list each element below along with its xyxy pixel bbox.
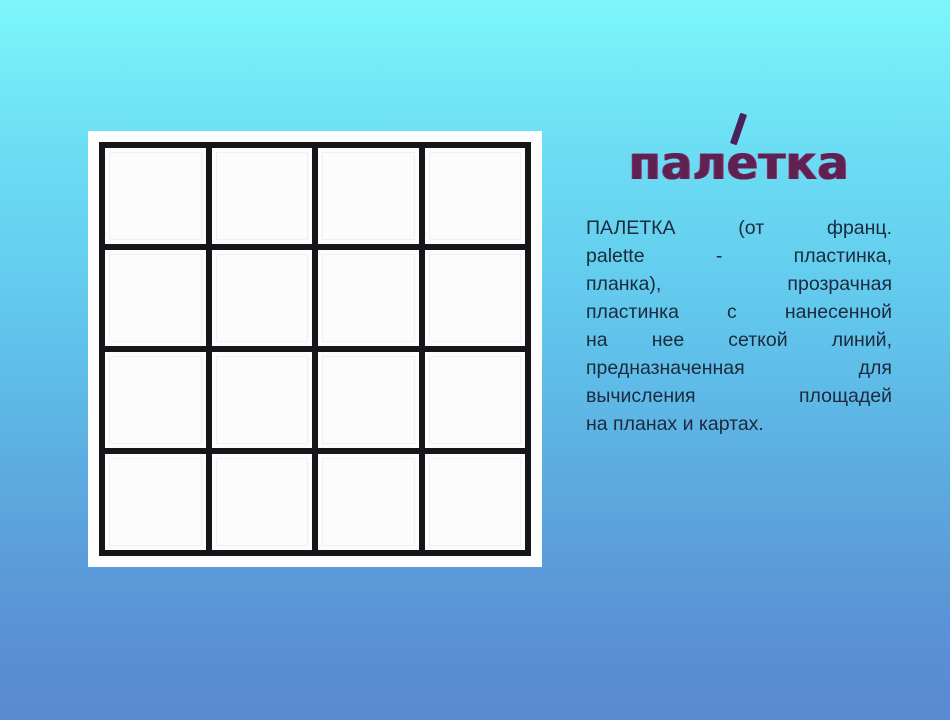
palette-cell	[105, 250, 206, 346]
palette-cell	[212, 454, 313, 550]
palette-cell	[318, 148, 419, 244]
palette-grid	[99, 142, 531, 556]
palette-cell	[318, 352, 419, 448]
definition-line: вычисления площадей	[586, 382, 892, 410]
palette-figure-card	[88, 131, 542, 567]
palette-cell	[425, 454, 526, 550]
palette-cell	[105, 352, 206, 448]
definition-paragraph: ПАЛЕТКА (от франц.palette - пластинка,пл…	[586, 214, 892, 438]
palette-cell	[425, 250, 526, 346]
definition-line: на нее сеткой линий,	[586, 326, 892, 354]
definition-line: palette - пластинка,	[586, 242, 892, 270]
palette-cell	[318, 250, 419, 346]
palette-cell	[425, 148, 526, 244]
definition-line: ПАЛЕТКА (от франц.	[586, 214, 892, 242]
definition-line: пластинка с нанесенной	[586, 298, 892, 326]
palette-cell	[212, 148, 313, 244]
palette-cell	[212, 352, 313, 448]
title-block: палетка	[586, 104, 892, 214]
palette-cell	[212, 250, 313, 346]
palette-cell	[105, 148, 206, 244]
definition-line: на планах и картах.	[586, 410, 892, 438]
definition-line: планка), прозрачная	[586, 270, 892, 298]
palette-cell	[425, 352, 526, 448]
palette-cell	[318, 454, 419, 550]
definition-line: предназначенная для	[586, 354, 892, 382]
palette-cell	[105, 454, 206, 550]
page-title: палетка	[586, 140, 892, 186]
text-column: палетка ПАЛЕТКА (от франц.palette - плас…	[586, 104, 892, 438]
slide-canvas: палетка ПАЛЕТКА (от франц.palette - плас…	[0, 0, 950, 720]
